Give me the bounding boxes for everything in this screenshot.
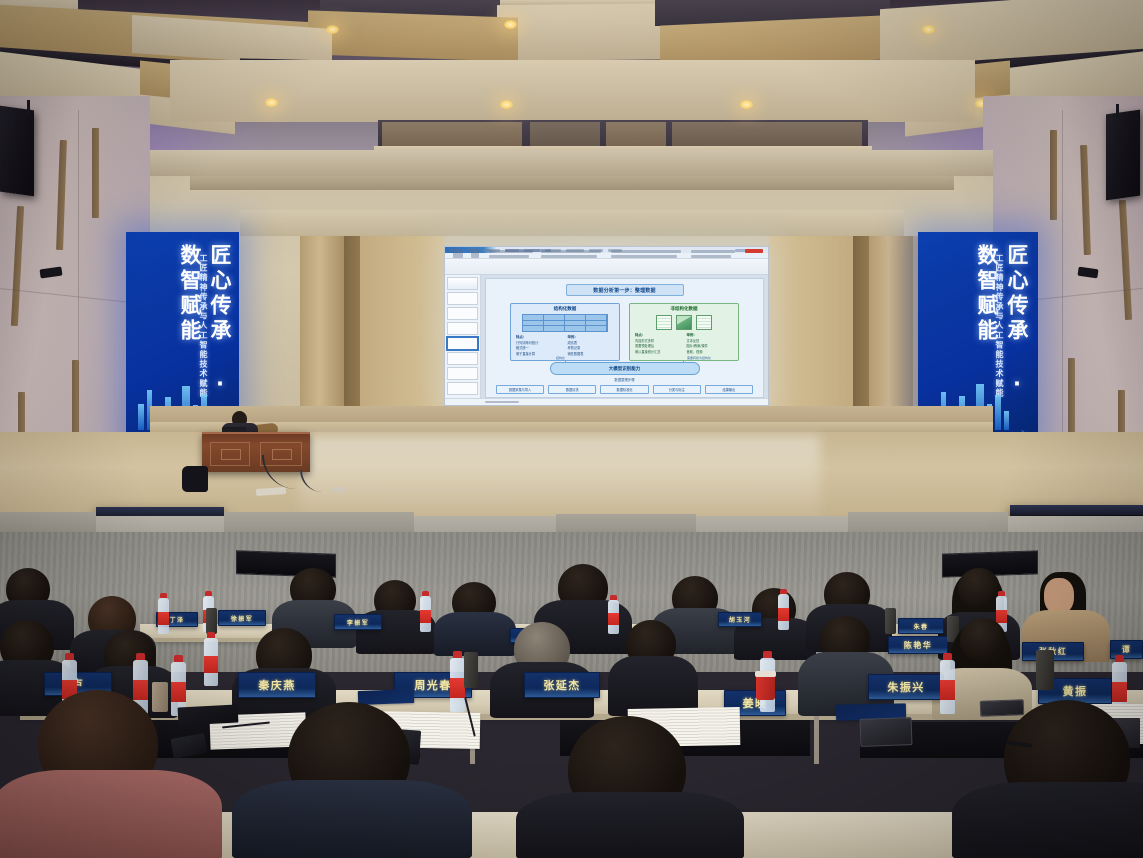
structured-data-heading: 结构化数据 xyxy=(511,306,619,312)
downlight xyxy=(265,98,278,107)
stage-column-shadow xyxy=(344,236,360,412)
step-chip: 数据标准化 xyxy=(600,385,648,394)
thermos-cup xyxy=(1036,650,1054,690)
status-slide-count xyxy=(485,401,519,403)
share-button[interactable] xyxy=(745,249,763,253)
ribbon-dictate-group[interactable] xyxy=(691,255,731,258)
thermos-cup xyxy=(206,608,217,634)
downlight xyxy=(326,25,339,34)
stage-header xyxy=(240,210,904,236)
powerpoint-ribbon[interactable] xyxy=(445,259,768,275)
name-plate: 徐振军 xyxy=(218,610,266,626)
step-chip-label: 结果输出 xyxy=(723,387,736,392)
image-icon xyxy=(676,315,692,330)
unstructured-data-heading: 非结构化数据 xyxy=(630,306,738,312)
unstructured-data-box: 非结构化数据 特点： 内容形式多样 需要预处理后 难以直接统计汇总 xyxy=(629,303,739,361)
ribbon-drawing-group[interactable] xyxy=(611,250,681,253)
ribbon-font-group[interactable] xyxy=(489,250,533,253)
proscenium-soffit xyxy=(150,150,993,176)
water-bottle xyxy=(420,596,431,632)
step-chip: 数据采集与导入 xyxy=(496,385,544,394)
stage-column xyxy=(869,236,913,412)
ribbon-slides-group[interactable] xyxy=(471,251,479,258)
subwoofer-top xyxy=(1010,505,1143,515)
water-bottle xyxy=(158,598,169,634)
downlight xyxy=(922,25,935,34)
water-bottle xyxy=(450,658,465,712)
water-bottle xyxy=(778,594,789,630)
slide-thumbnail-selected[interactable] xyxy=(447,337,478,350)
name-plate: 陈艳华 xyxy=(888,636,948,654)
unstructured-col2-heading: 举例： xyxy=(687,333,734,339)
powerpoint-status-bar xyxy=(445,398,768,405)
auditorium-scene: 数据分析第一步：整理数据 结构化数据 特点： xyxy=(0,0,1143,858)
slide-banner-text: 大模型识别能力 xyxy=(609,366,641,372)
unstructured-col1-heading: 特点： xyxy=(635,333,682,339)
name-plate: 胡玉河 xyxy=(718,612,762,627)
program-booklet xyxy=(358,689,414,705)
projection-screen: 数据分析第一步：整理数据 结构化数据 特点： xyxy=(444,246,769,406)
floor-connector xyxy=(332,487,346,492)
ribbon-paragraph-group[interactable] xyxy=(541,250,601,253)
right-connector-label: 需要转换为结构化 xyxy=(687,356,711,360)
structured-data-box: 结构化数据 特点： 行列清晰可统计 格式统一 便于直接计算 xyxy=(510,303,620,361)
wall-seam xyxy=(78,110,79,440)
name-plate-text: 陈艳华 xyxy=(904,640,932,651)
step-chip: 结果输出 xyxy=(705,385,753,394)
stage-panel xyxy=(360,236,444,412)
name-plate-text: 丁泽 xyxy=(170,615,185,624)
name-plate-text: 胡玉河 xyxy=(729,615,751,624)
structured-data-table-icon xyxy=(522,314,608,332)
slide-thumbnail[interactable] xyxy=(447,322,478,335)
slide-thumbnail[interactable] xyxy=(447,277,478,290)
slide-banner: 大模型识别能力 xyxy=(550,362,700,375)
table-leg xyxy=(814,716,819,764)
thermos-cup xyxy=(464,652,478,688)
slide-editing-area[interactable]: 数据分析第一步：整理数据 结构化数据 特点： xyxy=(481,275,768,405)
unstructured-col1-item: 难以直接统计汇总 xyxy=(635,350,682,355)
step-chip-label: 数据标准化 xyxy=(617,387,633,392)
slide-thumbnail-pane[interactable] xyxy=(445,275,481,405)
ribbon-font-size[interactable] xyxy=(489,255,529,258)
tablet-device xyxy=(980,699,1025,717)
text-file-icon xyxy=(696,315,712,330)
ceiling-recess-panel xyxy=(530,122,600,146)
ceiling-recess-panel xyxy=(606,122,666,146)
downlight xyxy=(740,100,753,109)
ceiling-recess-panel xyxy=(672,122,862,146)
structured-col2-heading: 举例： xyxy=(568,335,615,341)
speaker-rigging xyxy=(27,100,30,114)
slide-banner-subtitle: 数据整理步骤 xyxy=(614,377,634,382)
presenter-bag xyxy=(182,466,208,492)
ribbon-shapes-group[interactable] xyxy=(611,255,677,258)
name-plate-text: 李振军 xyxy=(347,618,369,627)
slide-thumbnail[interactable] xyxy=(447,292,478,305)
name-plate: 朱春 xyxy=(898,618,944,634)
thermos-cup xyxy=(152,682,168,712)
name-plate-text: 秦庆燕 xyxy=(258,677,295,693)
step-chip: 分类与标注 xyxy=(653,385,701,394)
stage-column xyxy=(300,236,344,412)
name-plate-text: 谭 xyxy=(1122,644,1131,655)
structured-data-details: 特点： 行列清晰可统计 格式统一 便于直接计算 举例： 成绩表 考勤记录 销售数… xyxy=(511,332,619,357)
coffee-cup xyxy=(756,676,775,700)
ribbon-paste-group[interactable] xyxy=(453,251,463,258)
tablet-device xyxy=(860,717,913,747)
step-chip: 数据清洗 xyxy=(548,385,596,394)
ribbon-editing-group[interactable] xyxy=(691,250,735,253)
name-plate: 朱振兴 xyxy=(868,674,944,700)
name-plate-text: 徐振军 xyxy=(231,614,253,623)
current-slide[interactable]: 数据分析第一步：整理数据 结构化数据 特点： xyxy=(485,278,764,398)
left-connector-label: 结构化 xyxy=(556,356,565,360)
ceiling-recess-panel xyxy=(382,122,522,146)
stage-column-shadow xyxy=(853,236,869,412)
water-bottle xyxy=(608,600,619,634)
name-plate-text: 朱振兴 xyxy=(887,679,924,695)
name-plate: 秦庆燕 xyxy=(238,672,316,698)
step-chip-label: 数据清洗 xyxy=(566,387,579,392)
speaker-rigging xyxy=(1116,104,1119,118)
slide-step-chips: 数据采集与导入 数据清洗 数据标准化 分类与标注 结果输出 xyxy=(496,385,753,394)
slide-thumbnail[interactable] xyxy=(447,367,478,380)
step-chip-label: 分类与标注 xyxy=(669,387,685,392)
unstructured-data-icons xyxy=(630,315,738,330)
downlight xyxy=(500,100,513,109)
structured-col2-item: 销售数据表 xyxy=(568,352,615,357)
ribbon-align-group[interactable] xyxy=(541,255,597,258)
slide-title: 数据分析第一步：整理数据 xyxy=(593,287,655,294)
ceiling-main-panel xyxy=(170,60,975,122)
name-plate: 李振军 xyxy=(334,614,382,630)
name-plate-text: 张延杰 xyxy=(543,677,580,693)
line-array-speaker-right xyxy=(1106,110,1140,201)
unstructured-data-details: 特点： 内容形式多样 需要预处理后 难以直接统计汇总 举例： 文本反馈 图片/教… xyxy=(630,330,738,355)
slide-thumbnail[interactable] xyxy=(447,382,478,395)
name-plate-text: 周光春 xyxy=(414,677,451,693)
document-icon xyxy=(656,315,672,330)
wall-slat xyxy=(92,128,99,218)
slide-thumbnail[interactable] xyxy=(447,307,478,320)
structured-col1-heading: 特点： xyxy=(516,335,563,341)
slide-title-box: 数据分析第一步：整理数据 xyxy=(566,284,684,296)
desk-panel xyxy=(210,442,250,466)
thermos-cup xyxy=(885,608,896,634)
name-plate: 张延杰 xyxy=(524,672,600,698)
proscenium-lip xyxy=(190,176,954,190)
desk-ornament xyxy=(221,449,241,460)
document-folder xyxy=(178,704,239,725)
water-bottle xyxy=(940,660,955,714)
step-chip-label: 数据采集与导入 xyxy=(509,387,531,392)
wall-slat xyxy=(1050,130,1057,220)
ceiling-panel xyxy=(308,10,518,61)
stage-panel xyxy=(769,236,853,412)
powerpoint-workspace: 数据分析第一步：整理数据 结构化数据 特点： xyxy=(445,275,768,405)
name-plate-text: 黄振 xyxy=(1063,683,1088,699)
water-bottle xyxy=(204,638,218,686)
wall-seam xyxy=(1062,110,1063,440)
line-array-speaker-left xyxy=(0,106,34,197)
downlight xyxy=(504,20,517,29)
name-plate-text: 朱春 xyxy=(914,622,929,631)
slide-thumbnail[interactable] xyxy=(447,352,478,365)
unstructured-col2-item: 音频、视频 xyxy=(687,350,734,355)
